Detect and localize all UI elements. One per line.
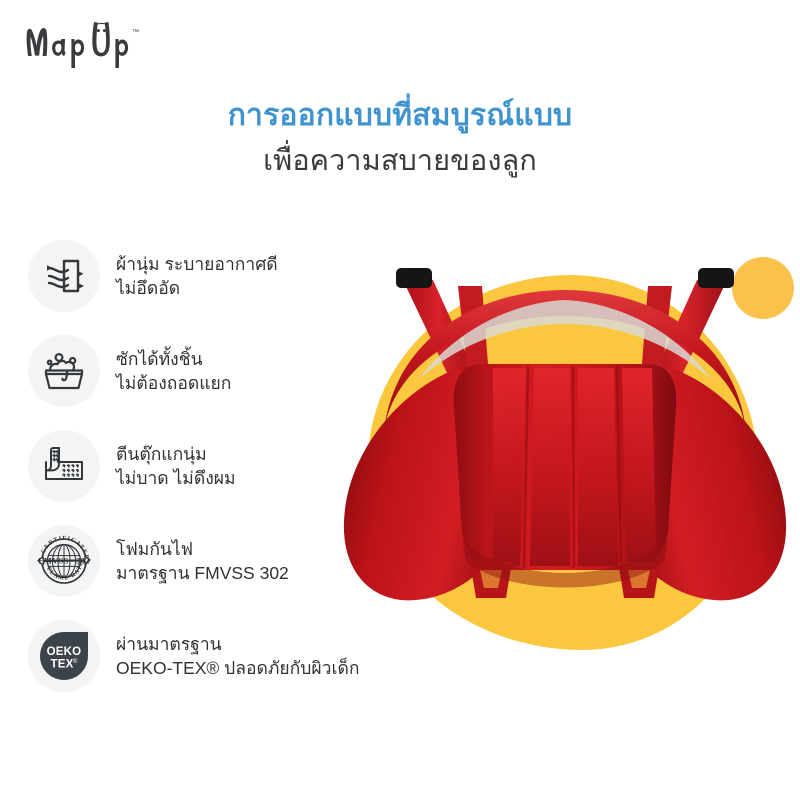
fmvss-302-flame-rated-seal-icon: CERTIFICATED FLAME RATED FMVSS · 302 (28, 525, 100, 597)
feature-line2: มาตรฐาน FMVSS 302 (116, 561, 289, 585)
oeko-tex-badge-icon: OEKO TEX ® (28, 620, 100, 692)
feature-line2: ไม่ต้องถอดแยก (116, 371, 231, 395)
svg-text:™: ™ (132, 29, 139, 36)
svg-text:®: ® (73, 658, 78, 665)
feature-line2: ไม่อึดอัด (116, 276, 278, 300)
feature-text: ผ่านมาตรฐาน OEKO-TEX® ปลอดภัยกับผิวเด็ก (116, 632, 359, 680)
feature-item-breathable: ผ้านุ่ม ระบายอากาศดี ไม่อึดอัด (28, 240, 358, 312)
headline-block: การออกแบบที่สมบูรณ์แบบ เพื่อความสบายของล… (0, 96, 800, 180)
feature-item-washable: ซักได้ทั้งชิ้น ไม่ต้องถอดแยก (28, 335, 358, 407)
oeko-tex-line1: OEKO (47, 646, 82, 658)
napup-brand-logo: ™ (16, 8, 226, 70)
feature-line1: ผ่านมาตรฐาน (116, 632, 359, 656)
feature-item-fmvss-302: CERTIFICATED FLAME RATED FMVSS · 302 โฟม… (28, 525, 358, 597)
feature-line1: ผ้านุ่ม ระบายอากาศดี (116, 252, 278, 276)
feature-item-oeko-tex: OEKO TEX ® ผ่านมาตรฐาน OEKO-TEX® ปลอดภัย… (28, 620, 358, 692)
velcro-hook-loop-icon (28, 430, 100, 502)
feature-line1: โฟมกันไฟ (116, 537, 289, 561)
feature-line1: ซักได้ทั้งชิ้น (116, 347, 231, 371)
feature-line2: OEKO-TEX® ปลอดภัยกับผิวเด็ก (116, 656, 359, 680)
feature-item-soft-velcro: ตีนตุ๊กแกนุ่ม ไม่บาด ไม่ดึงผม (28, 430, 358, 502)
washing-basin-icon (28, 335, 100, 407)
feature-text: ตีนตุ๊กแกนุ่ม ไม่บาด ไม่ดึงผม (116, 442, 236, 490)
feature-line2: ไม่บาด ไม่ดึงผม (116, 466, 236, 490)
feature-line1: ตีนตุ๊กแกนุ่ม (116, 442, 236, 466)
airflow-breathable-icon (28, 240, 100, 312)
product-artwork (330, 240, 800, 670)
infographic-canvas: ™ การออกแบบที่สมบูรณ์แบบ เพื่อความสบายขอ… (0, 0, 800, 800)
feature-list: ผ้านุ่ม ระบายอากาศดี ไม่อึดอัด (28, 240, 358, 715)
napup-head-support-product-image (330, 240, 800, 670)
feature-text: ซักได้ทั้งชิ้น ไม่ต้องถอดแยก (116, 347, 231, 395)
headline-sub: เพื่อความสบายของลูก (0, 142, 800, 180)
fmvss-banner-text: FMVSS · 302 (38, 556, 89, 566)
oeko-tex-line2: TEX (51, 659, 74, 671)
feature-text: โฟมกันไฟ มาตรฐาน FMVSS 302 (116, 537, 289, 585)
feature-text: ผ้านุ่ม ระบายอากาศดี ไม่อึดอัด (116, 252, 278, 300)
headline-main: การออกแบบที่สมบูรณ์แบบ (0, 96, 800, 136)
